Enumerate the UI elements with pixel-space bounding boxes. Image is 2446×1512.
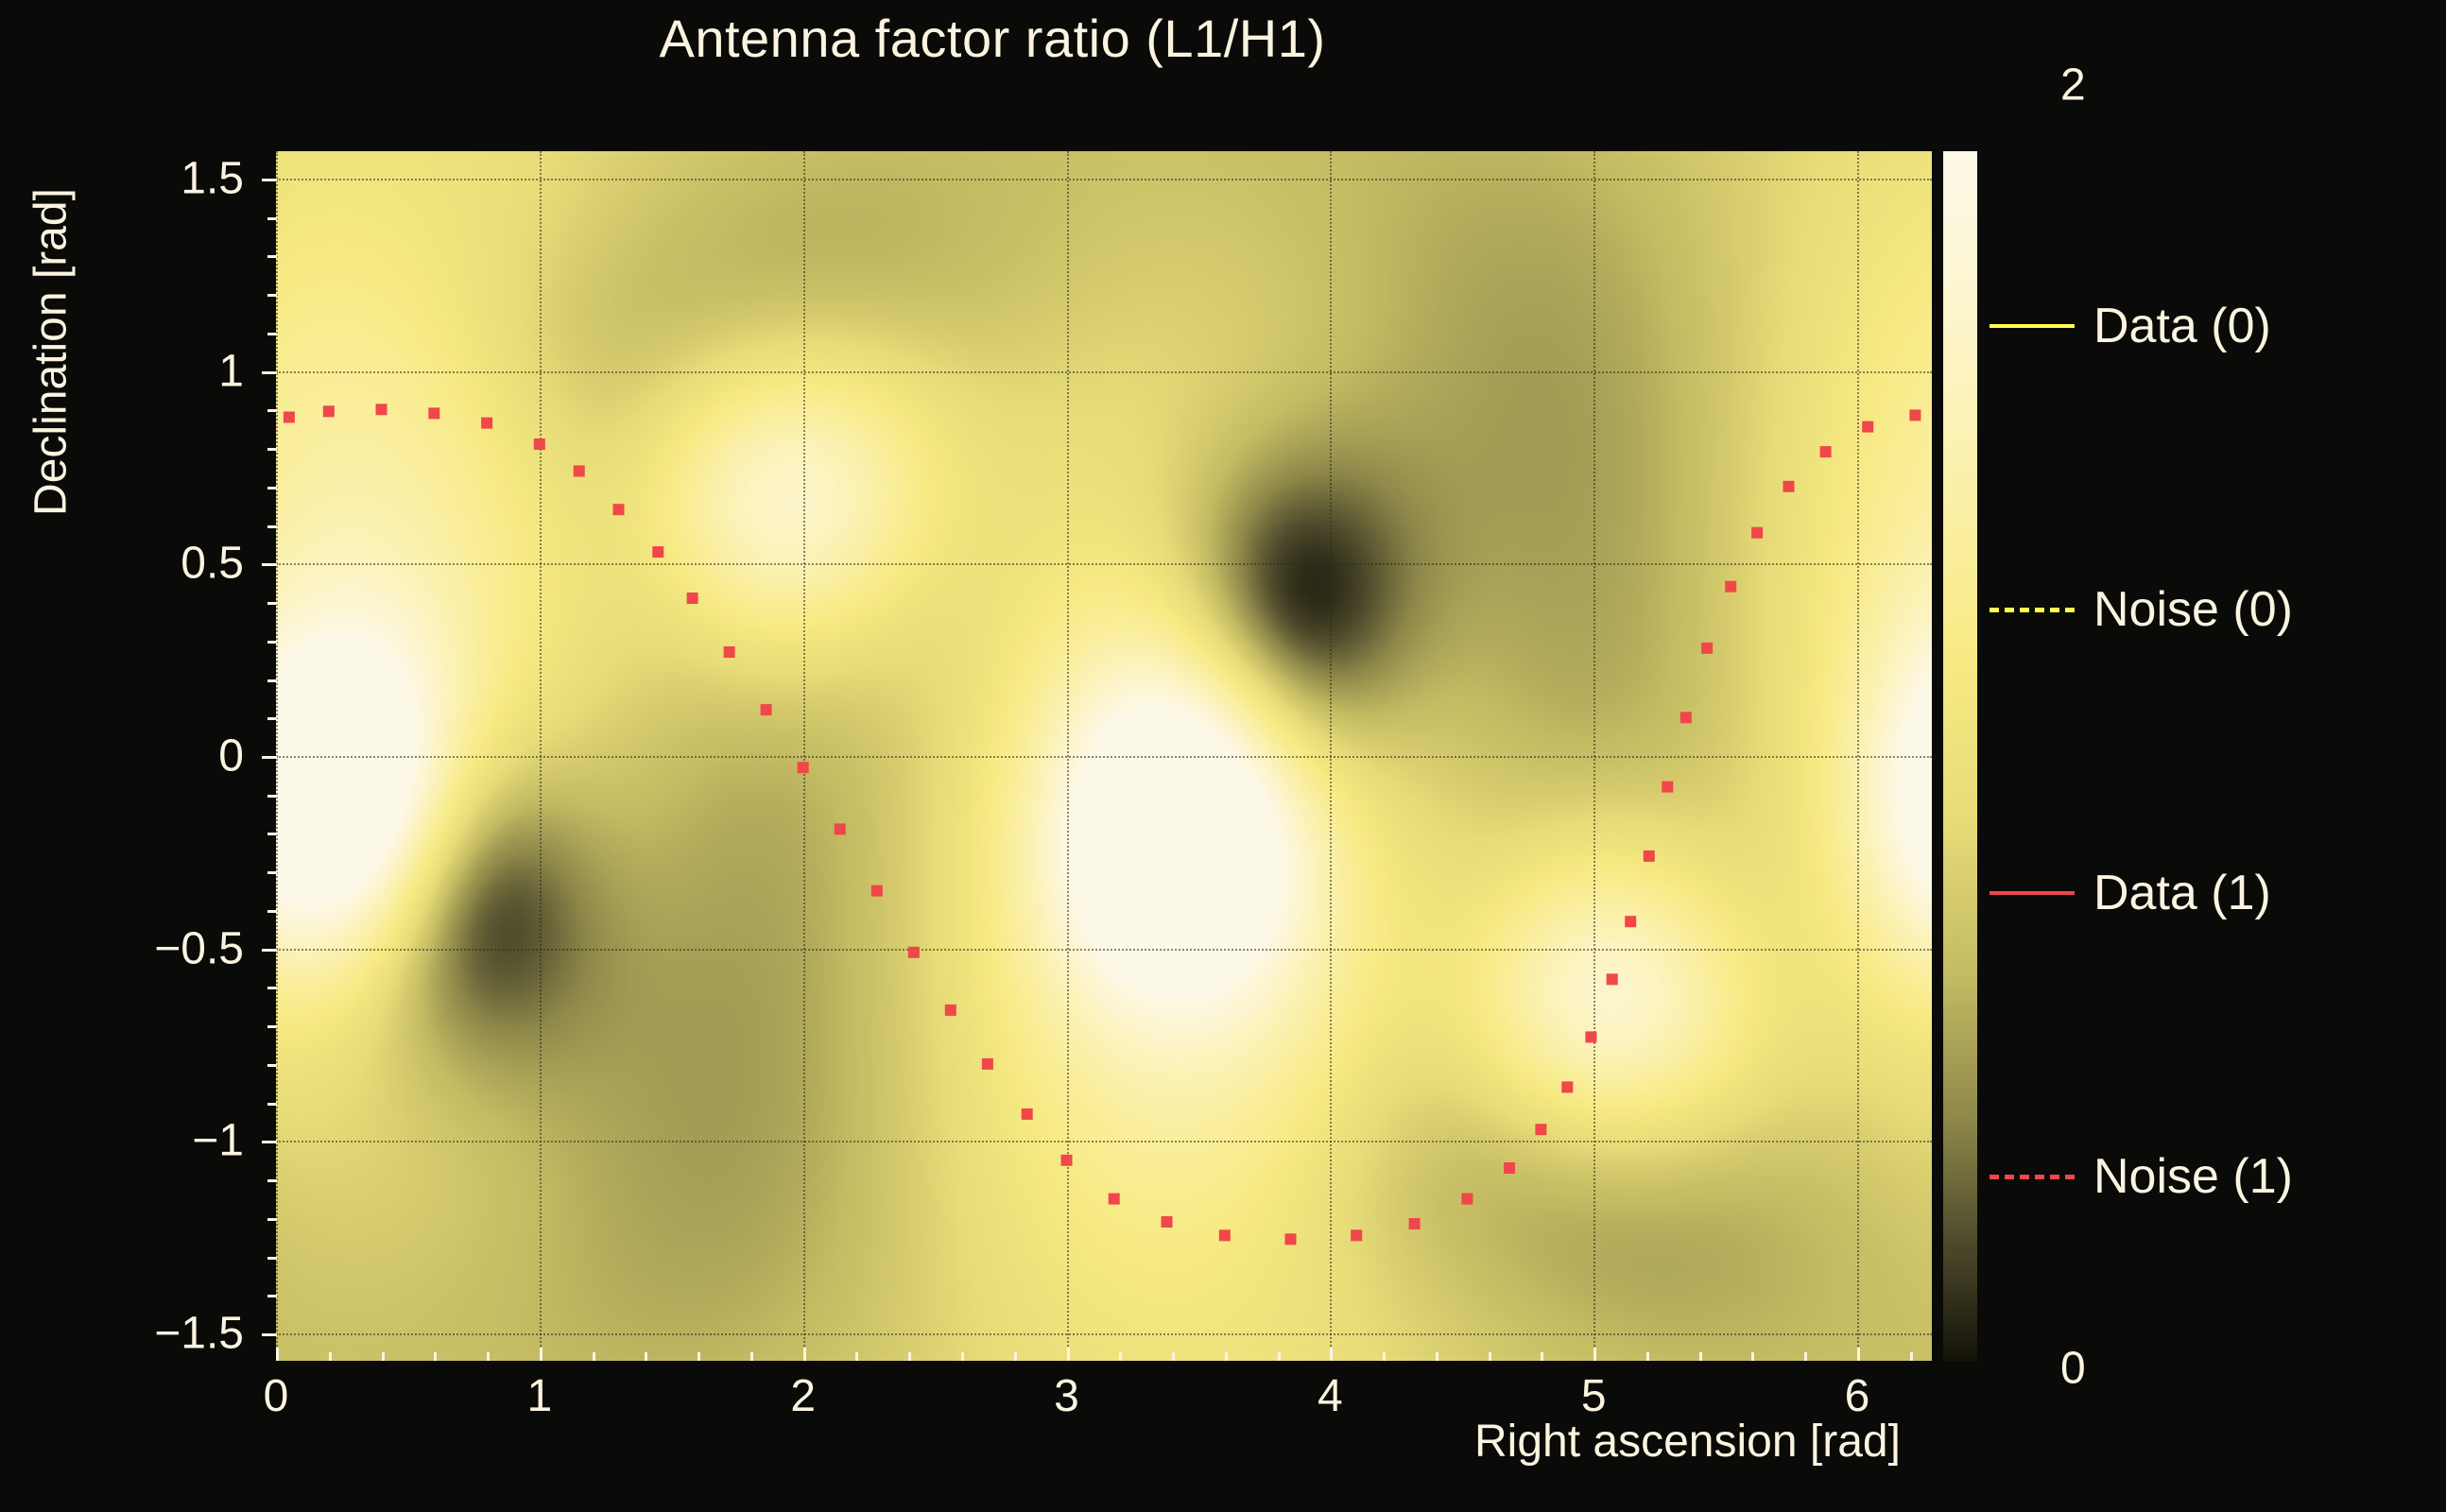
- y-axis-tick: [262, 1141, 277, 1143]
- y-axis-tick-label: −1: [192, 1115, 244, 1167]
- x-axis-minor-tick: [1646, 1352, 1649, 1361]
- y-axis-tick-label: 0.5: [181, 538, 244, 590]
- y-axis-minor-tick: [267, 987, 277, 989]
- colorbar[interactable]: [1943, 151, 1977, 1361]
- y-axis-tick: [262, 371, 277, 374]
- x-axis-tick-label: 5: [1581, 1370, 1607, 1422]
- noise-1-marker: [1162, 1216, 1173, 1228]
- noise-1-marker: [1644, 850, 1655, 862]
- x-axis-minor-tick: [855, 1352, 858, 1361]
- y-axis-minor-tick: [267, 910, 277, 913]
- legend-item-noise-0[interactable]: Noise (0): [1990, 576, 2434, 643]
- x-axis-minor-tick: [1541, 1352, 1543, 1361]
- noise-1-marker: [1351, 1229, 1362, 1241]
- x-axis-minor-tick: [1910, 1352, 1913, 1361]
- overlay-curves: [276, 151, 1932, 1361]
- legend-line-swatch-icon: [1990, 608, 2075, 612]
- noise-1-marker: [534, 438, 545, 450]
- noise-1-marker: [284, 412, 295, 423]
- noise-1-marker: [798, 762, 809, 773]
- x-axis-minor-tick: [1751, 1352, 1754, 1361]
- noise-1-marker: [1783, 481, 1795, 492]
- colorbar-min-label: 0: [2060, 1343, 2086, 1395]
- x-axis-minor-tick: [908, 1352, 911, 1361]
- y-axis-minor-tick: [267, 255, 277, 258]
- y-axis-minor-tick: [267, 217, 277, 220]
- noise-1-marker: [1285, 1233, 1297, 1245]
- noise-1-marker: [1061, 1155, 1073, 1166]
- x-axis-minor-tick: [487, 1352, 490, 1361]
- page-title: Antenna factor ratio (L1/H1): [0, 8, 1985, 69]
- noise-1-marker: [376, 404, 388, 415]
- noise-1-marker: [1625, 916, 1636, 927]
- x-axis-minor-tick: [1804, 1352, 1807, 1361]
- y-axis-minor-tick: [267, 1295, 277, 1297]
- noise-1-marker: [574, 466, 585, 477]
- noise-1-marker: [1662, 782, 1673, 793]
- y-axis-minor-tick: [267, 333, 277, 335]
- noise-1-marker: [982, 1058, 993, 1070]
- y-axis-title: Declination [rad]: [26, 145, 78, 560]
- y-axis-tick: [262, 756, 277, 759]
- noise-1-marker: [761, 704, 772, 715]
- heatmap-plot-area[interactable]: [276, 151, 1932, 1361]
- legend: Data (0)Noise (0)Data (1)Noise (1): [1990, 142, 2434, 1314]
- x-axis-tick: [1067, 1348, 1070, 1361]
- noise-1-marker: [323, 405, 335, 417]
- y-axis-tick-label: −0.5: [154, 922, 244, 974]
- noise-1-marker: [1109, 1194, 1120, 1205]
- x-axis-tick-label: 1: [526, 1370, 552, 1422]
- x-axis-tick-label: 0: [264, 1370, 289, 1422]
- x-axis-tick: [540, 1348, 543, 1361]
- noise-1-marker: [1022, 1108, 1033, 1120]
- y-axis-minor-tick: [267, 1064, 277, 1067]
- y-axis-minor-tick: [267, 525, 277, 528]
- noise-1-marker: [1504, 1162, 1515, 1174]
- y-axis-minor-tick: [267, 679, 277, 682]
- noise-1-marker: [1862, 421, 1873, 433]
- legend-item-data-0[interactable]: Data (0): [1990, 293, 2434, 359]
- noise-1-marker: [1607, 973, 1618, 985]
- y-axis-minor-tick: [267, 1257, 277, 1260]
- y-axis-minor-tick: [267, 1218, 277, 1221]
- x-axis-minor-tick: [1699, 1352, 1702, 1361]
- noise-1-marker: [428, 407, 439, 419]
- y-axis-minor-tick: [267, 487, 277, 490]
- y-axis-tick-label: −1.5: [154, 1308, 244, 1360]
- chart-root: Antenna factor ratio (L1/H1) 01234561.51…: [0, 0, 2446, 1512]
- legend-item-label: Data (0): [2093, 298, 2271, 354]
- x-axis-minor-tick: [1172, 1352, 1175, 1361]
- y-axis-tick: [262, 179, 277, 181]
- x-axis-minor-tick: [698, 1352, 700, 1361]
- x-axis-tick-label: 4: [1318, 1370, 1343, 1422]
- x-axis-tick: [803, 1348, 806, 1361]
- y-axis-minor-tick: [267, 717, 277, 720]
- x-axis-minor-tick: [1225, 1352, 1228, 1361]
- noise-1-marker: [724, 646, 735, 658]
- y-axis-tick-label: 0: [218, 730, 244, 782]
- noise-1-marker: [1561, 1081, 1573, 1092]
- x-axis-minor-tick: [329, 1352, 332, 1361]
- y-axis-minor-tick: [267, 448, 277, 451]
- y-axis-tick: [262, 1333, 277, 1336]
- y-axis-minor-tick: [267, 833, 277, 835]
- colorbar-gradient: [1943, 151, 1977, 1361]
- noise-1-marker: [1585, 1031, 1596, 1042]
- noise-1-marker: [1409, 1218, 1421, 1229]
- x-axis-tick-label: 3: [1054, 1370, 1079, 1422]
- y-axis-minor-tick: [267, 602, 277, 605]
- x-axis-minor-tick: [961, 1352, 964, 1361]
- colorbar-max-label: 2: [2060, 60, 2086, 112]
- noise-1-marker: [687, 593, 698, 604]
- noise-1-marker: [835, 823, 846, 834]
- y-axis-minor-tick: [267, 294, 277, 297]
- y-axis-tick-label: 1.5: [181, 152, 244, 204]
- legend-item-noise-1[interactable]: Noise (1): [1990, 1143, 2434, 1210]
- x-axis-minor-tick: [1119, 1352, 1122, 1361]
- noise-1-marker: [1219, 1229, 1231, 1241]
- noise-1-marker: [1725, 581, 1736, 593]
- y-axis-tick-label: 1: [218, 345, 244, 397]
- noise-1-marker: [1701, 643, 1713, 654]
- x-axis-minor-tick: [434, 1352, 437, 1361]
- noise-1-marker: [908, 947, 920, 958]
- x-axis-minor-tick: [645, 1352, 647, 1361]
- legend-item-data-1[interactable]: Data (1): [1990, 860, 2434, 926]
- x-axis-minor-tick: [1014, 1352, 1017, 1361]
- x-axis-minor-tick: [1383, 1352, 1386, 1361]
- legend-line-swatch-icon: [1990, 1175, 2075, 1179]
- noise-1-marker: [1820, 446, 1832, 457]
- y-axis-minor-tick: [267, 795, 277, 798]
- legend-item-label: Noise (1): [2093, 1148, 2293, 1205]
- noise-1-marker: [613, 504, 625, 515]
- noise-1-marker: [1751, 527, 1763, 539]
- noise-1-marker: [652, 546, 663, 558]
- y-axis-minor-tick: [267, 1179, 277, 1182]
- noise-1-marker: [1461, 1194, 1473, 1205]
- x-axis-tick: [1330, 1348, 1333, 1361]
- legend-item-label: Data (1): [2093, 865, 2271, 921]
- noise-1-marker: [871, 885, 883, 897]
- noise-1-marker: [481, 418, 492, 429]
- x-axis-minor-tick: [750, 1352, 753, 1361]
- x-axis-minor-tick: [1278, 1352, 1281, 1361]
- x-axis-tick-label: 6: [1845, 1370, 1870, 1422]
- y-axis-minor-tick: [267, 641, 277, 644]
- legend-line-swatch-icon: [1990, 324, 2075, 328]
- legend-item-label: Noise (0): [2093, 581, 2293, 638]
- y-axis-minor-tick: [267, 1025, 277, 1028]
- x-axis-tick: [1593, 1348, 1596, 1361]
- x-axis-tick-label: 2: [790, 1370, 816, 1422]
- x-axis-minor-tick: [1436, 1352, 1438, 1361]
- x-axis-tick: [276, 1348, 279, 1361]
- x-axis-minor-tick: [382, 1352, 385, 1361]
- x-axis-title: Right ascension [rad]: [1474, 1416, 1901, 1468]
- y-axis-minor-tick: [267, 871, 277, 874]
- x-axis-tick: [1857, 1348, 1860, 1361]
- y-axis-tick: [262, 563, 277, 566]
- noise-1-marker: [1535, 1124, 1546, 1135]
- noise-1-marker: [1909, 409, 1921, 421]
- legend-line-swatch-icon: [1990, 891, 2075, 895]
- x-axis-minor-tick: [1489, 1352, 1491, 1361]
- y-axis-minor-tick: [267, 1103, 277, 1106]
- x-axis-minor-tick: [593, 1352, 595, 1361]
- noise-1-marker: [945, 1005, 956, 1016]
- y-axis-minor-tick: [267, 409, 277, 412]
- y-axis-tick: [262, 949, 277, 952]
- noise-1-marker: [1680, 712, 1692, 723]
